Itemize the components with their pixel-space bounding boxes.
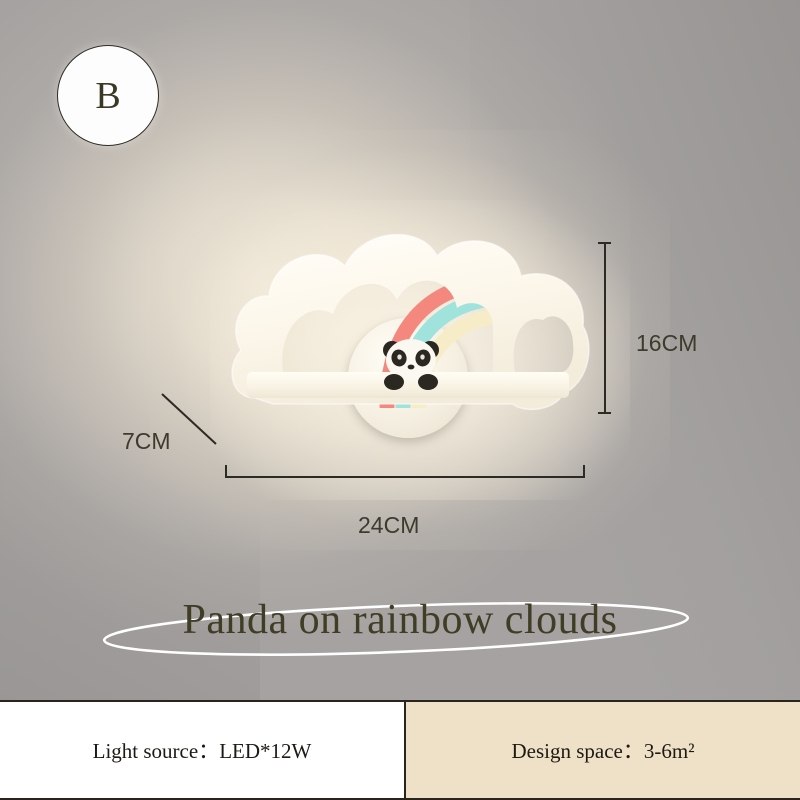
dimension-depth-label: 7CM xyxy=(122,428,171,455)
panda-figurine-icon xyxy=(375,334,447,390)
product-title: Panda on rainbow clouds xyxy=(0,596,800,644)
dimension-width-caliper xyxy=(225,464,585,478)
cloud-wall-lamp xyxy=(225,222,593,457)
dimension-height-label: 16CM xyxy=(636,330,697,357)
dimension-height-caliper xyxy=(598,242,612,414)
spec-light-source-text: Light source：LED*12W xyxy=(93,735,312,765)
spec-cell-light-source: Light source：LED*12W xyxy=(0,702,406,798)
spec-bar: Light source：LED*12W Design space：3-6m² xyxy=(0,700,800,800)
variant-badge-label: B xyxy=(95,77,120,115)
spec-design-space-text: Design space：3-6m² xyxy=(511,735,694,765)
dimension-width-label: 24CM xyxy=(358,512,419,539)
variant-badge[interactable]: B xyxy=(57,45,159,146)
spec-cell-design-space: Design space：3-6m² xyxy=(406,702,800,798)
product-image: B xyxy=(0,0,800,800)
